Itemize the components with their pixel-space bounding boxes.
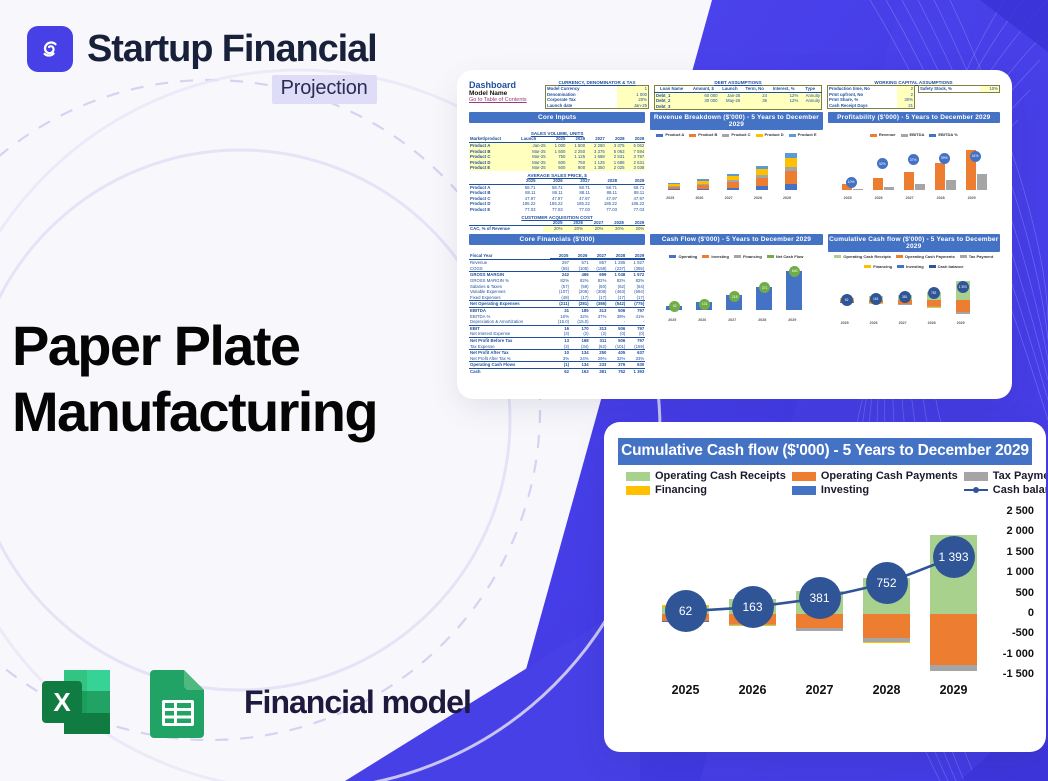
year-header: 2028 [607, 253, 626, 259]
y-axis-label: 2 500 [978, 505, 1034, 517]
legend-swatch [896, 255, 903, 258]
legend-item: Operating Cash Payments [792, 470, 958, 482]
bar-segment [697, 184, 709, 185]
fiscal-year-label: Fiscal Year [469, 253, 550, 260]
legend-item: Product D [756, 132, 784, 137]
legend-swatch [964, 472, 988, 481]
cell [741, 104, 768, 110]
format-badges: X Financial model [36, 662, 471, 742]
legend-label: Product D [765, 132, 784, 137]
x-axis-label: 2027 [728, 318, 736, 322]
cell: 77.03 [618, 207, 645, 213]
bar-segment [786, 271, 802, 310]
row-label: Launch date [546, 103, 617, 109]
cell: 20% [543, 226, 563, 232]
legend-label: Tax Payment [993, 470, 1046, 482]
x-axis-label: 2027 [899, 321, 907, 325]
cell: 381 [590, 368, 608, 374]
bar-segment [863, 642, 910, 643]
bar-segment [930, 614, 977, 665]
cell: Debt_3 [655, 104, 689, 110]
cell: (1) [550, 362, 570, 369]
data-point-bubble: 62 [665, 590, 707, 632]
legend-label: EBITDA [910, 132, 925, 137]
sales-volume-table: Market/productLaunch20252026202720282029… [469, 136, 645, 171]
cell: (281) [570, 301, 590, 308]
legend-swatch [767, 255, 774, 258]
data-point-bubble: 37% [908, 154, 919, 165]
legend-label: Cash balance [938, 264, 964, 269]
cell: 20% [604, 226, 624, 232]
x-axis-label: 2026 [870, 321, 878, 325]
legend-label: Product E [798, 132, 817, 137]
x-axis-label: 2028 [754, 196, 762, 200]
legend-item: Product E [789, 132, 817, 137]
bar-segment [756, 186, 768, 190]
year-header: 2027 [588, 253, 607, 259]
legend-label: Revenue [879, 132, 896, 137]
column-header: Term, No [741, 86, 768, 93]
cell: 77.03 [537, 207, 564, 213]
bar-segment [697, 189, 709, 191]
core-financials-table: Fiscal Year 20252026202720282029 Revenue… [469, 253, 645, 375]
data-point-bubble: 752 [866, 562, 908, 604]
core-inputs-band: Core Inputs [469, 112, 645, 123]
x-axis-label: 2028 [852, 683, 922, 697]
cell: 900 [566, 165, 586, 171]
cumulative-cash-flow-chart: Operating Cash ReceiptsOperating Cash Pa… [828, 253, 1000, 375]
data-point-bubble: 1 393 [957, 281, 969, 293]
legend-item: Investing [792, 484, 958, 496]
bar-segment [863, 614, 910, 638]
legend-item: Financing [734, 254, 762, 259]
row-label: Operating Cash Flows [469, 362, 550, 369]
legend-label: Investing [711, 254, 729, 259]
y-axis-label: -500 [978, 627, 1034, 639]
cell: 163 [570, 368, 590, 374]
cell: 1 393 [626, 368, 645, 374]
svg-text:X: X [53, 687, 71, 717]
cumulative-cash-flow-title: Cumulative Cash flow ($'000) - 5 Years t… [828, 234, 1000, 252]
legend-swatch [901, 134, 908, 137]
row-label: Cash Receipt Days [828, 103, 897, 109]
chart-title: Cumulative Cash flow ($'000) - 5 Years t… [618, 438, 1032, 465]
product-launch: Mar-25 [520, 165, 547, 171]
cell: 752 [607, 368, 626, 374]
table-row: Debt_3 [655, 104, 822, 110]
working-capital-table: Production time, No2Prmt upfront, No2Prm… [827, 85, 915, 109]
column-header: Type [799, 86, 821, 93]
profitability-title: Profitability ($'000) - 5 Years to Decem… [828, 112, 1000, 123]
bar-segment [727, 180, 739, 182]
column-header: Amount, $ [688, 86, 718, 93]
legend-swatch [702, 255, 709, 258]
bar-segment [956, 312, 970, 314]
legend-label: Tax Payment [969, 254, 993, 259]
cell: 2 025 [606, 165, 626, 171]
x-axis-label: 2029 [783, 196, 791, 200]
bar-segment [785, 153, 797, 158]
table-row: Operating Cash Flows(1)134233376630 [469, 362, 645, 369]
legend-item: EBITDA % [929, 132, 957, 137]
legend-item: Cash balance [964, 484, 1046, 496]
x-axis-label: 2025 [668, 318, 676, 322]
x-axis-label: 2028 [758, 318, 766, 322]
x-axis-label: 2025 [666, 196, 674, 200]
legend-label: Operating Cash Payments [821, 470, 958, 482]
safety-stock-label: Safety Stock, % [919, 86, 980, 93]
bar-segment [785, 171, 797, 184]
data-point-bubble: 163 [870, 293, 882, 305]
legend-item: Operating Cash Receipts [626, 470, 786, 482]
legend-swatch [722, 134, 729, 137]
data-point-bubble: 101 [699, 299, 710, 310]
y-axis-label: 2 000 [978, 525, 1034, 537]
cash-flow-title: Cash Flow ($'000) - 5 Years to December … [650, 234, 822, 245]
legend-item: Operating Cash Receipts [834, 254, 891, 259]
bar-segment [727, 188, 739, 191]
y-axis-label: -1 500 [978, 668, 1034, 680]
x-axis-label: 2027 [785, 683, 855, 697]
bar-segment [853, 189, 863, 190]
legend-line-swatch [964, 489, 988, 491]
product-name: Product E [469, 207, 509, 213]
brand-subtitle: Projection [272, 75, 377, 104]
legend-label: Investing [906, 264, 924, 269]
profitability-chart: RevenueEBITDAEBITDA % 10%202532%202637%2… [828, 131, 1000, 231]
bar-segment [727, 174, 739, 176]
legend-item: Product B [689, 132, 717, 137]
bar-segment [946, 180, 956, 191]
x-axis-label: 2025 [844, 196, 852, 200]
row-label: Cash [469, 368, 550, 374]
microsoft-excel-icon: X [36, 662, 116, 742]
currency-caption: CURRENCY, DENOMINATOR & TAX [545, 80, 649, 85]
x-axis-label: 2026 [718, 683, 788, 697]
poster-canvas: Startup Financial Projection Paper Plate… [0, 0, 1048, 781]
debt-assumptions-table: Loan NameAmount, $LaunchTerm, NoInterest… [654, 85, 822, 110]
bar-segment [756, 166, 768, 169]
y-axis-label: 1 000 [978, 566, 1034, 578]
legend-swatch [689, 134, 696, 137]
bar-segment [756, 175, 768, 177]
legend-label: Net Cash Flow [776, 254, 804, 259]
bar-segment [668, 186, 680, 187]
legend-item: Financing [626, 484, 786, 496]
x-axis-label: 2027 [725, 196, 733, 200]
cell: (211) [550, 301, 570, 308]
legend-label: Financing [743, 254, 762, 259]
x-axis-label: 2028 [928, 321, 936, 325]
cell: 3 038 [626, 165, 646, 171]
legend-label: Product A [665, 132, 684, 137]
cell: 20% [584, 226, 604, 232]
bar-segment [668, 184, 680, 186]
bar-segment [785, 158, 797, 167]
cell: 77.03 [509, 207, 536, 213]
bar-segment [668, 183, 680, 184]
model-name-label: Model Name [469, 90, 539, 97]
bar-segment [956, 300, 970, 312]
legend-swatch [626, 472, 650, 481]
table-row: Product EMar-256009001 3502 0253 038 [469, 165, 645, 171]
table-row: Launch dateJan-25 [546, 103, 649, 109]
bar-segment [915, 184, 925, 191]
cumulative-cash-flow-card[interactable]: Cumulative Cash flow ($'000) - 5 Years t… [604, 422, 1046, 752]
legend-item: Investing [702, 254, 729, 259]
x-axis-label: 2028 [937, 196, 945, 200]
table-row: Net Operating Expenses(211)(281)(386)(54… [469, 301, 645, 308]
cell [688, 104, 718, 110]
legend-label: Operating [678, 254, 697, 259]
data-point-bubble: 41% [970, 151, 981, 162]
x-axis-label: 2027 [906, 196, 914, 200]
format-label: Financial model [244, 684, 471, 721]
legend-label: EBITDA % [938, 132, 957, 137]
legend-swatch [792, 486, 816, 495]
cell: 62 [550, 368, 570, 374]
legend-item: Operating [669, 254, 697, 259]
cell: 134 [570, 362, 590, 369]
cell: 20% [625, 226, 645, 232]
data-point-bubble: 1 393 [933, 536, 975, 578]
bar-segment [884, 187, 894, 191]
product-name: Product E [469, 165, 520, 171]
bar-segment [756, 178, 768, 187]
legend-swatch [960, 255, 967, 258]
cell: 1 350 [586, 165, 606, 171]
legend-label: Cash balance [993, 484, 1046, 496]
legend-label: Operating Cash Receipts [843, 254, 891, 259]
table-of-contents-link[interactable]: Go to Table of Contents [469, 97, 539, 103]
x-axis-label: 2026 [698, 318, 706, 322]
bar-segment [697, 185, 709, 189]
y-axis-label: 1 500 [978, 546, 1034, 558]
legend-item: EBITDA [901, 132, 925, 137]
legend-swatch [864, 265, 871, 268]
x-axis-label: 2025 [651, 683, 721, 697]
data-point-bubble: 39% [939, 153, 950, 164]
legend-swatch [929, 265, 936, 268]
bar-segment [727, 176, 739, 180]
legend-swatch [734, 255, 741, 258]
revenue-breakdown-title: Revenue Breakdown ($'000) - 5 Years to D… [650, 112, 822, 130]
table-row: Cash Receipt Days21 [828, 103, 915, 109]
row-value: 21 [897, 103, 915, 109]
y-axis-label: -1 000 [978, 648, 1034, 660]
core-financials-band: Core Financials ($'000) [469, 234, 645, 245]
dashboard-preview-card[interactable]: Dashboard Model Name Go to Table of Cont… [457, 70, 1012, 399]
legend-label: Product B [698, 132, 717, 137]
year-header: 2026 [569, 253, 588, 259]
legend-item: Investing [897, 264, 924, 269]
legend-item: Financing [864, 264, 892, 269]
legend-label: Investing [821, 484, 869, 496]
cell [768, 104, 799, 110]
cell [799, 104, 821, 110]
legend-label: Financing [655, 484, 707, 496]
cell: 233 [590, 362, 608, 369]
column-header: Launch [719, 86, 742, 93]
data-point-bubble: 62 [841, 294, 853, 306]
bar-segment [668, 189, 680, 190]
brand-lockup: Startup Financial Projection [27, 26, 377, 104]
year-header: 2029 [626, 253, 645, 259]
cac-table: 20252026202720282029 CAC, % of Revenue20… [469, 220, 645, 232]
data-point-bubble: 10% [846, 177, 857, 188]
safety-stock-table: Safety Stock, % 10% [918, 85, 1000, 93]
bar-segment [873, 178, 883, 190]
legend-swatch [656, 134, 663, 137]
legend-item: Tax Payment [960, 254, 993, 259]
bar-segment [756, 169, 768, 175]
cell: 20% [563, 226, 583, 232]
x-axis-label: 2029 [957, 321, 965, 325]
legend-label: Operating Cash Receipts [655, 470, 786, 482]
row-label: Net Operating Expenses [469, 301, 550, 308]
y-axis-label: 0 [978, 607, 1034, 619]
legend-label: Operating Cash Payments [905, 254, 955, 259]
legend-item: Product C [722, 132, 750, 137]
row-value: Jan-25 [617, 103, 649, 109]
legend-swatch [789, 134, 796, 137]
x-axis-label: 2029 [919, 683, 989, 697]
currency-table: Model Currency1Denomination1 000Corporat… [545, 85, 649, 109]
legend-swatch [929, 134, 936, 137]
cash-flow-chart: OperatingInvestingFinancingNet Cash Flow… [650, 253, 822, 375]
legend-swatch [756, 134, 763, 137]
bar-segment [930, 665, 977, 671]
revenue-breakdown-chart: Product AProduct BProduct CProduct DProd… [650, 131, 822, 231]
column-header: Loan Name [655, 86, 689, 93]
bar-segment [935, 163, 945, 190]
google-sheets-icon [138, 662, 218, 742]
bar-segment [904, 172, 914, 190]
y-axis-label: 500 [978, 587, 1034, 599]
x-axis-label: 2029 [968, 196, 976, 200]
data-point-bubble: 163 [732, 586, 774, 628]
cell: 630 [626, 362, 645, 369]
data-point-bubble: 640 [789, 266, 800, 277]
bar-segment [697, 181, 709, 184]
legend-item: Cash balance [929, 264, 964, 269]
cell: 600 [547, 165, 567, 171]
legend-item: Product A [656, 132, 684, 137]
cell: 77.03 [591, 207, 618, 213]
average-price-table: 20252026202720282029 Product A58.7158.71… [469, 178, 645, 213]
cell: (386) [590, 301, 608, 308]
cell: 77.03 [564, 207, 591, 213]
bar-segment [668, 187, 680, 190]
brand-title: Startup Financial [87, 26, 377, 72]
data-point-bubble: 381 [899, 291, 911, 303]
data-point-bubble: 62 [669, 301, 680, 312]
cell: (542) [607, 301, 626, 308]
table-row: Cash621633817521 393 [469, 368, 645, 374]
legend-label: Financing [873, 264, 892, 269]
chart-legend: Operating Cash ReceiptsOperating Cash Pa… [618, 465, 1032, 498]
bar-segment [785, 184, 797, 190]
chart-plot-area: 2 5002 0001 5001 0005000-500-1 000-1 500… [624, 504, 1032, 709]
x-axis-label: 2025 [841, 321, 849, 325]
cell: 376 [607, 362, 626, 369]
legend-item: Net Cash Flow [767, 254, 804, 259]
x-axis-label: 2029 [788, 318, 796, 322]
data-point-bubble: 381 [799, 577, 841, 619]
legend-swatch [897, 265, 904, 268]
column-header: Interest, % [768, 86, 799, 93]
bar-segment [727, 182, 739, 188]
year-header: 2025 [550, 253, 569, 259]
legend-swatch [792, 472, 816, 481]
legend-swatch [669, 255, 676, 258]
bar-segment [977, 174, 987, 191]
legend-swatch [870, 134, 877, 137]
legend-swatch [834, 255, 841, 258]
legend-item: Tax Payment [964, 470, 1046, 482]
data-point-bubble: 32% [877, 158, 888, 169]
cell [719, 104, 742, 110]
bar-segment [796, 628, 843, 631]
bar-segment [697, 179, 709, 180]
table-row: CAC, % of Revenue20%20%20%20%20% [469, 226, 645, 232]
infinity-e-logo-icon [27, 26, 73, 72]
bar-segment [898, 304, 912, 305]
x-axis-label: 2026 [875, 196, 883, 200]
legend-item: Revenue [870, 132, 896, 137]
legend-label: Product C [731, 132, 750, 137]
legend-item: Operating Cash Payments [896, 254, 955, 259]
data-point-bubble: 752 [928, 287, 940, 299]
legend-swatch [626, 486, 650, 495]
x-axis-label: 2026 [695, 196, 703, 200]
dashboard-title: Dashboard [469, 80, 539, 90]
page-title: Paper Plate Manufacturing [12, 313, 482, 445]
cell: (775) [626, 301, 645, 308]
safety-stock-value[interactable]: 10% [980, 86, 1000, 93]
row-label: CAC, % of Revenue [469, 226, 543, 232]
table-row: Product E77.0377.0377.0377.0377.03 [469, 207, 645, 213]
bar-segment [785, 167, 797, 171]
